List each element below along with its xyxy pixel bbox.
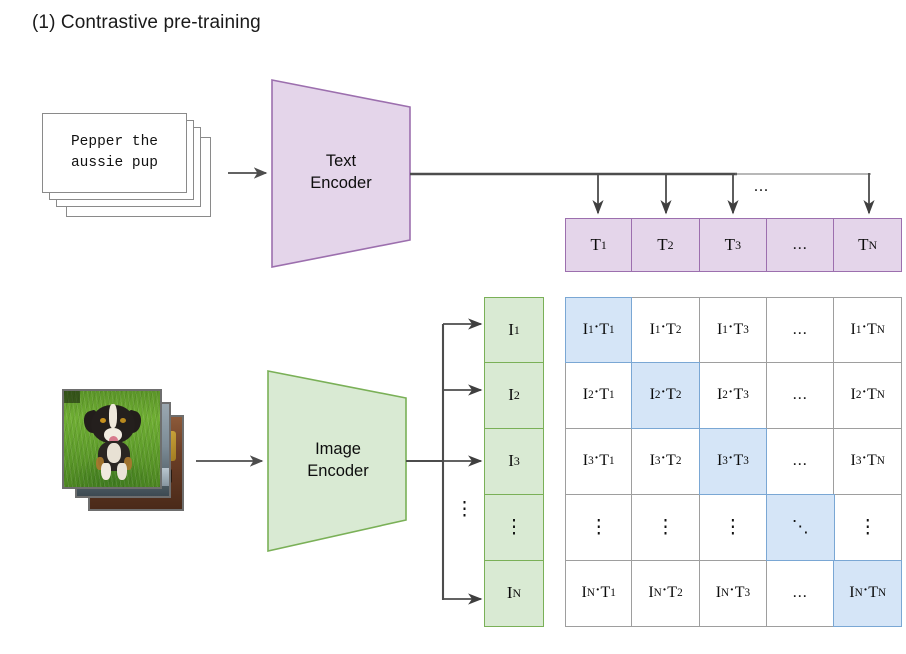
image-index-subscript: 1 bbox=[588, 324, 594, 336]
text-encoder-shape bbox=[272, 80, 410, 267]
image-index-subscript: 1 bbox=[655, 324, 661, 336]
similarity-cell-i1-t...: ... bbox=[766, 297, 835, 363]
text-index-subscript: 3 bbox=[743, 389, 749, 401]
image-embedding-cell-i1: I1 bbox=[484, 297, 544, 363]
image-embedding-cell-subscript: 1 bbox=[514, 323, 520, 338]
text-embedding-cell-ellipsis-glyph: ... bbox=[793, 236, 808, 254]
similarity-cell-ellipsis-glyph: ... bbox=[793, 321, 808, 339]
image-embedding-cell-subscript: 3 bbox=[514, 454, 520, 469]
puppy-eye-left bbox=[100, 418, 106, 423]
image-photo-stack bbox=[62, 389, 194, 517]
similarity-cell-i3-t...: ... bbox=[766, 428, 835, 495]
puppy-chest-bib bbox=[107, 443, 121, 463]
image-index-subscript: 2 bbox=[655, 389, 661, 401]
dot-product-operator: · bbox=[728, 384, 733, 400]
similarity-cell-i2-t2: I2·T2 bbox=[631, 362, 700, 429]
dot-product-operator: · bbox=[661, 450, 666, 466]
similarity-cell-i2-t1: I2·T1 bbox=[565, 362, 632, 429]
similarity-cell-i3-tN: I3·TN bbox=[833, 428, 902, 495]
similarity-cell-i2-tN: I2·TN bbox=[833, 362, 902, 429]
image-embedding-cell-subscript: 2 bbox=[514, 388, 520, 403]
dot-product-operator: · bbox=[661, 384, 666, 400]
text-index-subscript: 2 bbox=[676, 324, 682, 336]
image-index-subscript: N bbox=[721, 587, 729, 599]
similarity-cell-iN-tN: IN·TN bbox=[833, 560, 902, 627]
image-index-subscript: 2 bbox=[856, 389, 862, 401]
caption-card-front: Pepper the aussie pup bbox=[42, 113, 187, 193]
similarity-cell-i3-t1: I3·T1 bbox=[565, 428, 632, 495]
image-embedding-cell-ellipsis: ⋮ bbox=[484, 494, 544, 561]
similarity-cell-i...-t...: ⋱ bbox=[766, 494, 835, 561]
text-embedding-cell-t2: T2 bbox=[631, 218, 700, 272]
image-index-subscript: N bbox=[855, 587, 863, 599]
text-embedding-cell-subscript: N bbox=[869, 238, 878, 253]
image-index-subscript: N bbox=[654, 587, 662, 599]
text-embedding-cell-subscript: 3 bbox=[735, 238, 741, 253]
caption-line-1: Pepper the bbox=[71, 132, 158, 153]
image-index-subscript: 2 bbox=[588, 389, 594, 401]
text-caption-card-stack: Pepper the aussie pup bbox=[42, 113, 227, 225]
puppy-paw-left bbox=[101, 463, 111, 480]
image-embedding-cell-subscript: N bbox=[513, 586, 522, 601]
text-embedding-cell-t1: T1 bbox=[565, 218, 632, 272]
text-embedding-cell-subscript: 2 bbox=[668, 238, 674, 253]
image-index-subscript: 1 bbox=[856, 324, 862, 336]
dot-product-operator: · bbox=[862, 450, 867, 466]
image-embedding-cell-ellipsis-glyph: ⋮ bbox=[505, 521, 524, 534]
similarity-cell-i2-t...: ... bbox=[766, 362, 835, 429]
similarity-cell-ellipsis-glyph: ⋮ bbox=[858, 521, 877, 534]
similarity-matrix: I1·T1I1·T2I1·T3...I1·TNI2·T1I2·T2I2·T3..… bbox=[565, 297, 902, 627]
puppy-paw-right bbox=[117, 463, 127, 480]
similarity-cell-ellipsis-glyph: ⋮ bbox=[589, 521, 608, 534]
text-index-subscript: 3 bbox=[743, 324, 749, 336]
text-index-subscript: N bbox=[878, 587, 886, 599]
dot-product-operator: · bbox=[594, 319, 599, 335]
similarity-cell-iN-t3: IN·T3 bbox=[699, 560, 768, 627]
similarity-cell-ellipsis-glyph: ⋮ bbox=[723, 521, 742, 534]
image-index-subscript: 1 bbox=[722, 324, 728, 336]
text-index-subscript: N bbox=[877, 324, 885, 336]
dot-product-operator: · bbox=[594, 384, 599, 400]
text-index-subscript: 3 bbox=[743, 455, 749, 467]
text-embedding-cell-subscript: 1 bbox=[601, 238, 607, 253]
similarity-cell-i2-t3: I2·T3 bbox=[699, 362, 768, 429]
image-embedding-cell-i3: I3 bbox=[484, 428, 544, 495]
similarity-cell-i...-t1: ⋮ bbox=[565, 494, 632, 561]
dot-product-operator: · bbox=[863, 582, 868, 598]
similarity-cell-ellipsis-glyph: ⋮ bbox=[656, 521, 675, 534]
similarity-cell-i...-tN: ⋮ bbox=[833, 494, 902, 561]
text-index-subscript: 2 bbox=[676, 455, 682, 467]
similarity-cell-i3-t3: I3·T3 bbox=[699, 428, 768, 495]
dot-product-operator: · bbox=[594, 450, 599, 466]
image-embedding-column: I1I2I3⋮IN bbox=[484, 297, 544, 627]
text-embedding-row: T1T2T3...TN bbox=[565, 218, 902, 272]
text-index-subscript: 1 bbox=[609, 389, 615, 401]
caption-line-2: aussie pup bbox=[71, 153, 158, 174]
image-index-subscript: 3 bbox=[856, 455, 862, 467]
similarity-cell-iN-t...: ... bbox=[766, 560, 835, 627]
text-index-subscript: 2 bbox=[677, 587, 683, 599]
puppy-eye-right bbox=[120, 418, 126, 423]
text-embedding-cell-ellipsis: ... bbox=[766, 218, 835, 272]
text-embedding-cell-t3: T3 bbox=[699, 218, 768, 272]
text-index-subscript: 1 bbox=[609, 455, 615, 467]
image-index-subscript: 3 bbox=[588, 455, 594, 467]
dot-product-operator: · bbox=[595, 582, 600, 598]
image-index-subscript: 2 bbox=[722, 389, 728, 401]
dot-product-operator: · bbox=[862, 384, 867, 400]
similarity-cell-i1-t3: I1·T3 bbox=[699, 297, 768, 363]
image-bus-ellipsis: ⋮ bbox=[455, 503, 474, 516]
dot-product-operator: · bbox=[730, 582, 735, 598]
image-index-subscript: 3 bbox=[722, 455, 728, 467]
image-index-subscript: 3 bbox=[655, 455, 661, 467]
page-title: (1) Contrastive pre-training bbox=[32, 12, 261, 34]
image-index-subscript: N bbox=[587, 587, 595, 599]
image-embedding-cell-iN: IN bbox=[484, 560, 544, 627]
photo-card-front-puppy bbox=[62, 389, 162, 489]
text-index-subscript: 2 bbox=[676, 389, 682, 401]
similarity-cell-i3-t2: I3·T2 bbox=[631, 428, 700, 495]
similarity-cell-i1-t2: I1·T2 bbox=[631, 297, 700, 363]
similarity-cell-i1-t1: I1·T1 bbox=[565, 297, 632, 363]
text-index-subscript: 1 bbox=[610, 587, 616, 599]
similarity-cell-ellipsis-glyph: ⋱ bbox=[792, 517, 809, 537]
similarity-cell-ellipsis-glyph: ... bbox=[793, 452, 808, 470]
text-index-subscript: N bbox=[877, 455, 885, 467]
similarity-cell-ellipsis-glyph: ... bbox=[793, 584, 808, 602]
similarity-cell-iN-t1: IN·T1 bbox=[565, 560, 632, 627]
dot-product-operator: · bbox=[862, 319, 867, 335]
dot-product-operator: · bbox=[661, 319, 666, 335]
similarity-cell-i...-t3: ⋮ bbox=[699, 494, 768, 561]
photo-corner-shadow bbox=[64, 391, 80, 403]
similarity-cell-i...-t2: ⋮ bbox=[631, 494, 700, 561]
dot-product-operator: · bbox=[728, 319, 733, 335]
text-index-subscript: 3 bbox=[744, 587, 750, 599]
text-index-subscript: 1 bbox=[609, 324, 615, 336]
puppy-face-blaze bbox=[109, 404, 117, 428]
similarity-cell-ellipsis-glyph: ... bbox=[793, 386, 808, 404]
text-embedding-cell-tN: TN bbox=[833, 218, 902, 272]
dot-product-operator: · bbox=[728, 450, 733, 466]
dot-product-operator: · bbox=[662, 582, 667, 598]
text-index-subscript: N bbox=[877, 389, 885, 401]
similarity-cell-iN-t2: IN·T2 bbox=[631, 560, 700, 627]
similarity-cell-i1-tN: I1·TN bbox=[833, 297, 902, 363]
image-embedding-cell-i2: I2 bbox=[484, 362, 544, 429]
text-bus-ellipsis: ... bbox=[754, 178, 769, 196]
image-encoder-shape bbox=[268, 371, 406, 551]
